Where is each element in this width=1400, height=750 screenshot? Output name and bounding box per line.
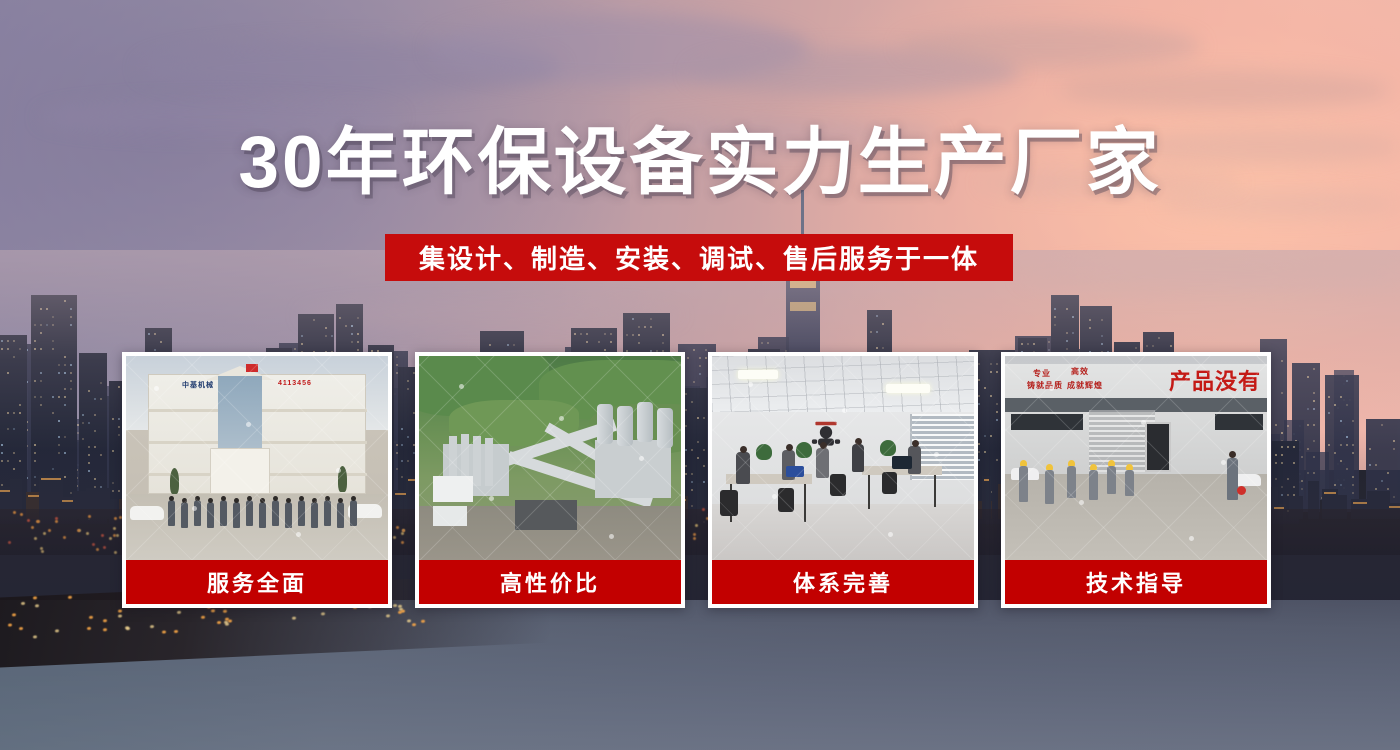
shore-light — [87, 627, 91, 630]
shore-light — [118, 609, 122, 612]
shore-light — [103, 619, 107, 622]
staff-person — [220, 500, 227, 526]
shore-light — [35, 605, 39, 608]
cloud — [900, 24, 1200, 68]
shore-light — [103, 628, 107, 631]
shore-light — [12, 614, 16, 617]
factory-door — [1145, 422, 1171, 472]
company-sign: 中基机械 — [182, 380, 214, 390]
feature-card[interactable]: 产品没有 专业 高效 铸就品质 成就辉煌 技术指导 — [1001, 352, 1271, 608]
city-light — [34, 537, 37, 540]
feature-card[interactable]: 中基机械 4113456 服务全面 — [122, 352, 392, 608]
shore-light — [33, 636, 37, 639]
shore-light — [33, 597, 37, 600]
phone-number: 4113456 — [278, 380, 312, 387]
cloud — [1060, 70, 1390, 110]
shore-light — [89, 615, 93, 618]
factory-worker — [1067, 466, 1076, 498]
shore-light — [412, 623, 416, 626]
staff-person — [181, 502, 188, 528]
shore-light — [174, 630, 178, 633]
feature-card[interactable]: 高性价比 — [415, 352, 685, 608]
factory-worker — [1045, 470, 1054, 504]
courtyard — [126, 494, 388, 560]
staff-person — [207, 502, 214, 528]
shore-light — [421, 620, 425, 623]
shore-light — [201, 616, 205, 619]
shore-light — [55, 630, 59, 633]
workshop-workers-photo: 产品没有 专业 高效 铸就品质 成就辉煌 — [1005, 356, 1267, 560]
factory-slogan-small: 专业 — [1033, 368, 1051, 379]
hero-banner: 30年环保设备实力生产厂家 集设计、制造、安装、调试、售后服务于一体 中基机械 … — [0, 0, 1400, 750]
city-light — [101, 534, 104, 537]
company-building-photo: 中基机械 4113456 — [126, 356, 388, 560]
city-light — [92, 543, 95, 546]
flag — [246, 364, 258, 372]
city-light — [88, 515, 91, 518]
staff-person — [259, 502, 266, 528]
shore-light — [177, 610, 181, 613]
shore-light — [8, 623, 12, 626]
staff-person — [194, 500, 201, 526]
shore-light — [19, 627, 23, 630]
shore-light — [211, 610, 215, 613]
tower-light — [790, 302, 816, 311]
factory-slogan-small: 高效 — [1071, 366, 1089, 377]
production-plant-aerial-photo — [419, 356, 681, 560]
city-light — [13, 511, 16, 514]
city-light — [27, 519, 30, 522]
card-caption: 高性价比 — [419, 560, 681, 604]
staff-person — [285, 502, 292, 528]
staff-person — [246, 500, 253, 526]
city-light — [43, 532, 46, 535]
office-interior-photo — [712, 356, 974, 560]
staff-person — [168, 500, 175, 526]
shore-light — [217, 621, 221, 624]
shore-light — [407, 619, 411, 622]
feature-card[interactable]: 体系完善 — [708, 352, 978, 608]
page-title: 30年环保设备实力生产厂家 — [0, 126, 1400, 199]
shore-light — [321, 612, 325, 615]
staff-person — [298, 500, 305, 526]
subtitle-banner: 集设计、制造、安装、调试、售后服务于一体 — [385, 234, 1013, 281]
factory-slogan-small: 成就辉煌 — [1067, 380, 1103, 391]
shore-light — [401, 610, 405, 613]
city-light — [55, 517, 58, 520]
factory-worker — [1089, 470, 1098, 500]
subtitle-text: 集设计、制造、安装、调试、售后服务于一体 — [419, 239, 979, 276]
card-caption: 体系完善 — [712, 560, 974, 604]
staff-person — [233, 502, 240, 528]
factory-worker — [1107, 466, 1116, 494]
staff-person — [311, 502, 318, 528]
office-floor — [712, 504, 974, 560]
card-caption: 技术指导 — [1005, 560, 1267, 604]
shore-light — [68, 596, 72, 599]
factory-slogan-large: 产品没有 — [1169, 364, 1261, 396]
city-light — [113, 527, 116, 530]
factory-worker — [1125, 470, 1134, 496]
building-entrance — [210, 448, 270, 494]
shore-light — [386, 614, 390, 617]
shore-light — [150, 625, 154, 628]
staff-person — [350, 500, 357, 526]
city-light — [113, 534, 116, 537]
staff-person — [272, 500, 279, 526]
shore-light — [225, 623, 229, 626]
factory-slogan-small: 铸就品质 — [1027, 380, 1063, 391]
shore-light — [223, 610, 227, 613]
city-light — [37, 520, 40, 523]
staff-person — [337, 502, 344, 528]
shore-light — [292, 617, 296, 620]
shore-light — [162, 630, 166, 633]
factory-worker — [1019, 466, 1028, 502]
shore-light — [21, 602, 25, 605]
card-caption: 服务全面 — [126, 560, 388, 604]
shore-light — [398, 610, 402, 613]
shore-light — [118, 614, 122, 617]
feature-card-row: 中基机械 4113456 服务全面 — [122, 352, 1278, 608]
ceiling-grid — [712, 356, 974, 414]
staff-person — [324, 500, 331, 526]
